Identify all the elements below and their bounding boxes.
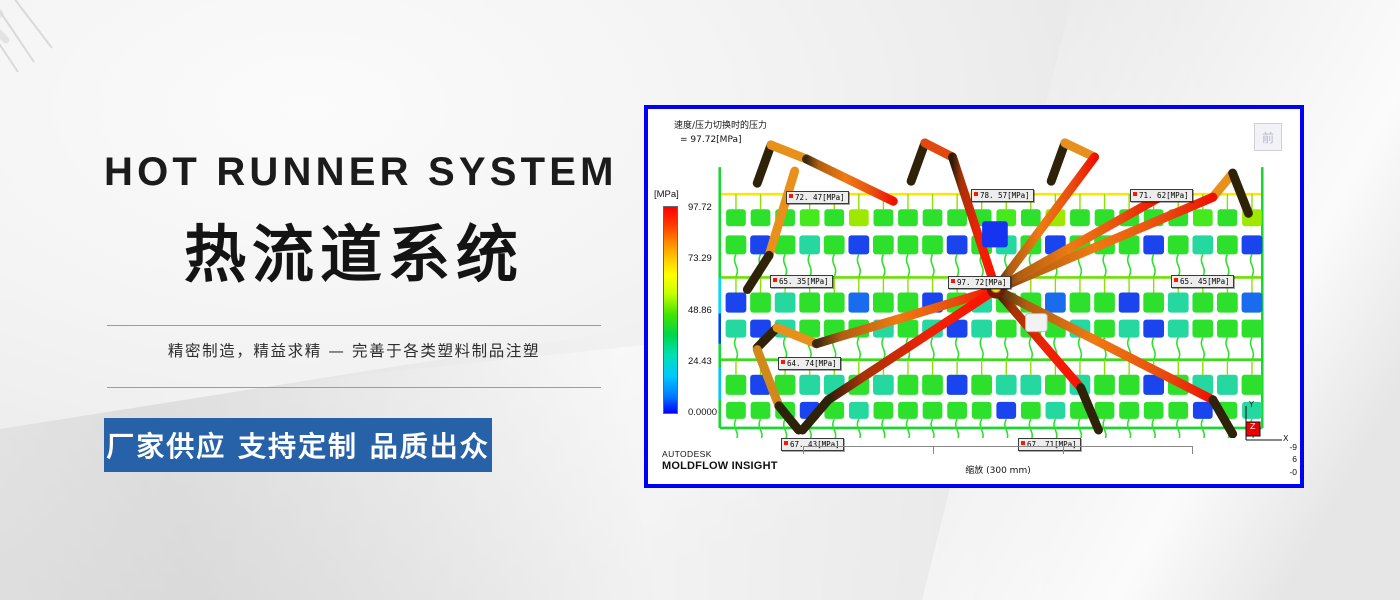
page-title-chinese: 热流道系统 bbox=[104, 222, 604, 287]
gate-drop-line bbox=[882, 254, 885, 276]
cavity-cell bbox=[751, 402, 771, 419]
cavity-cell bbox=[947, 235, 968, 254]
cavity-cell bbox=[1143, 293, 1164, 313]
gate-drop-line bbox=[1177, 254, 1180, 276]
axis-label-z: Z bbox=[1250, 422, 1255, 431]
gate-drop-line bbox=[1079, 338, 1082, 360]
moldflow-image-frame: 速度/压力切换时的压力 = 97.72[MPa] 前 [MPa] 97.72 7… bbox=[644, 105, 1304, 488]
pressure-callout: 65. 35[MPa] bbox=[770, 275, 833, 288]
colorbar-unit-label: [MPa] bbox=[654, 189, 679, 200]
axis-value-2: -0 bbox=[1289, 466, 1297, 478]
gate-drop-line bbox=[1152, 338, 1155, 360]
gate-drop-line bbox=[1226, 338, 1229, 360]
cavity-cell bbox=[1192, 293, 1213, 313]
gate-drop-line bbox=[931, 254, 934, 276]
gate-drop-line bbox=[1201, 338, 1204, 360]
moldflow-canvas: 速度/压力切换时的压力 = 97.72[MPa] 前 [MPa] 97.72 7… bbox=[648, 109, 1300, 484]
axis-coordinate-values: -9 6 -0 bbox=[1289, 441, 1297, 478]
page-title-english: HOT RUNNER SYSTEM bbox=[104, 152, 604, 192]
pressure-callout: 64. 74[MPa] bbox=[778, 357, 841, 370]
cavity-cell bbox=[1094, 375, 1115, 395]
cavity-cell bbox=[1046, 402, 1066, 419]
cavity-cell bbox=[1168, 402, 1188, 419]
gate-drop-line bbox=[1251, 254, 1254, 276]
cavity-cell bbox=[775, 293, 796, 313]
cavity-cell bbox=[726, 320, 747, 338]
divider-bottom bbox=[107, 387, 601, 388]
cavity-cell bbox=[726, 235, 747, 254]
gate-drop-line bbox=[1029, 338, 1032, 360]
cavity-cell bbox=[824, 209, 844, 226]
gate-drop-line bbox=[907, 254, 910, 276]
pressure-callout: 78. 57[MPa] bbox=[971, 189, 1034, 202]
gate-drop-line bbox=[833, 254, 836, 276]
axis-value-1: 6 bbox=[1289, 453, 1297, 465]
pressure-callout: 97. 72[MPa] bbox=[948, 276, 1011, 289]
gate-drop-line bbox=[735, 338, 738, 360]
autodesk-branding: AUTODESK MOLDFLOW INSIGHT bbox=[662, 450, 778, 472]
gate-drop-line bbox=[1128, 254, 1131, 276]
simulation-title-line1: 速度/压力切换时的压力 bbox=[674, 120, 767, 134]
cavity-cell bbox=[1021, 209, 1041, 226]
axis-triad: Y X Z bbox=[1238, 398, 1294, 460]
gate-drop-line bbox=[1226, 254, 1229, 276]
cavity-cell bbox=[1119, 320, 1140, 338]
cavity-cell bbox=[1119, 375, 1140, 395]
gate-drop-line bbox=[931, 338, 934, 360]
banner-stage: HOT RUNNER SYSTEM 热流道系统 精密制造，精益求精 — 完善于各… bbox=[0, 0, 1400, 600]
scale-bar-label: 缩放 (300 mm) bbox=[803, 463, 1193, 476]
cavity-cell bbox=[947, 402, 967, 419]
cavity-cell bbox=[874, 209, 894, 226]
cavity-cell bbox=[1119, 402, 1139, 419]
cavity-cell bbox=[898, 402, 918, 419]
cavity-cell bbox=[1021, 402, 1041, 419]
cavity-cell bbox=[848, 235, 869, 254]
gate-drop-line bbox=[808, 254, 811, 276]
cavity-cell bbox=[799, 375, 820, 395]
cavity-cell bbox=[1020, 375, 1041, 395]
cavity-cell bbox=[1192, 235, 1213, 254]
gate-drop-line bbox=[857, 338, 860, 360]
cavity-cell bbox=[1242, 293, 1263, 313]
cavity-cell bbox=[898, 375, 919, 395]
cavity-cell bbox=[1168, 293, 1189, 313]
cavity-cell bbox=[1070, 293, 1091, 313]
cavity-cell bbox=[1143, 235, 1164, 254]
gate-drop-line bbox=[1152, 254, 1155, 276]
cavity-cell bbox=[1218, 209, 1238, 226]
cavity-cell bbox=[1217, 320, 1238, 338]
cavity-cell bbox=[799, 235, 820, 254]
pressure-callout: 65. 45[MPa] bbox=[1171, 275, 1234, 288]
cavity-cell bbox=[1242, 235, 1263, 254]
gate-drop-line bbox=[1005, 338, 1008, 360]
cavity-cell bbox=[751, 209, 771, 226]
cavity-cell bbox=[971, 375, 992, 395]
cavity-cell bbox=[1045, 375, 1066, 395]
cavity-cell bbox=[1217, 375, 1238, 395]
cavity-cell bbox=[1070, 209, 1090, 226]
cavity-cell bbox=[996, 320, 1017, 338]
cavity-cell bbox=[1242, 375, 1263, 395]
cavity-cell bbox=[1168, 320, 1189, 338]
cavity-cell bbox=[1168, 235, 1189, 254]
gate-drop-line bbox=[1251, 338, 1254, 360]
gate-drop-line bbox=[735, 254, 738, 276]
cavity-cell bbox=[923, 402, 943, 419]
cavity-cell bbox=[1045, 293, 1066, 313]
colorbar-gradient bbox=[663, 206, 678, 414]
cavity-cell bbox=[873, 293, 894, 313]
gate-drop-line bbox=[784, 254, 787, 276]
cavity-cell bbox=[922, 375, 943, 395]
gate-drop-line bbox=[1177, 338, 1180, 360]
gate-drop-line bbox=[956, 338, 959, 360]
cta-button[interactable]: 厂家供应 支持定制 品质出众 bbox=[104, 418, 492, 472]
gate-drop-line bbox=[956, 254, 959, 276]
axis-label-y: Y bbox=[1249, 400, 1254, 409]
cavity-cell bbox=[898, 235, 919, 254]
pressure-callout: 71. 62[MPa] bbox=[1130, 189, 1193, 202]
cavity-cell bbox=[1242, 320, 1263, 338]
cavity-cell bbox=[726, 293, 747, 313]
scale-bar bbox=[803, 446, 1193, 458]
cavity-cell bbox=[726, 375, 747, 395]
gate-drop-line bbox=[1103, 254, 1106, 276]
cavity-cell bbox=[849, 209, 869, 226]
cavity-cell bbox=[971, 320, 992, 338]
cavity-cell bbox=[799, 293, 820, 313]
cavity-cell bbox=[1217, 235, 1238, 254]
cavity-cell bbox=[1143, 320, 1164, 338]
cavity-cell bbox=[849, 402, 869, 419]
cavity-cell bbox=[800, 209, 820, 226]
cavity-cell bbox=[873, 235, 894, 254]
gate-drop-line bbox=[857, 254, 860, 276]
cavity-cell bbox=[972, 402, 992, 419]
cavity-cell bbox=[1192, 320, 1213, 338]
cavity-cell bbox=[824, 293, 845, 313]
cavity-cell bbox=[996, 375, 1017, 395]
gate-drop-line bbox=[1201, 254, 1204, 276]
cavity-cell bbox=[824, 235, 845, 254]
cavity-cell bbox=[922, 235, 943, 254]
brand-moldflow: MOLDFLOW INSIGHT bbox=[662, 460, 778, 472]
cavity-cell bbox=[947, 209, 967, 226]
brand-autodesk: AUTODESK bbox=[662, 450, 778, 460]
cavity-cell bbox=[873, 375, 894, 395]
cavity-cell bbox=[726, 402, 746, 419]
cavity-cell bbox=[1095, 402, 1115, 419]
cavity-cell bbox=[1193, 402, 1213, 419]
gate-drop-line bbox=[882, 338, 885, 360]
cavity-cell bbox=[1119, 293, 1140, 313]
cavity-cell bbox=[1094, 320, 1115, 338]
axis-label-x: X bbox=[1283, 434, 1288, 443]
cavity-cell bbox=[923, 209, 943, 226]
cavity-cell bbox=[1094, 293, 1115, 313]
cavity-cell bbox=[1217, 293, 1238, 313]
axis-value-0: -9 bbox=[1289, 441, 1297, 453]
cavity-cell bbox=[947, 375, 968, 395]
cavity-cell bbox=[1144, 402, 1164, 419]
cavity-cell bbox=[726, 209, 746, 226]
gate-drop-line bbox=[980, 338, 983, 360]
cavity-cell bbox=[996, 402, 1016, 419]
cavity-cell bbox=[898, 209, 918, 226]
cavity-cell bbox=[848, 293, 869, 313]
palm-leaf-decoration bbox=[0, 0, 158, 174]
headline-block: HOT RUNNER SYSTEM 热流道系统 精密制造，精益求精 — 完善于各… bbox=[104, 152, 604, 472]
pressure-callout: 72. 47[MPa] bbox=[786, 191, 849, 204]
cavity-cell bbox=[1193, 209, 1213, 226]
cavity-cell bbox=[874, 402, 894, 419]
cavity-cell bbox=[750, 293, 771, 313]
subtitle-text: 精密制造，精益求精 — 完善于各类塑料制品注塑 bbox=[104, 326, 604, 361]
